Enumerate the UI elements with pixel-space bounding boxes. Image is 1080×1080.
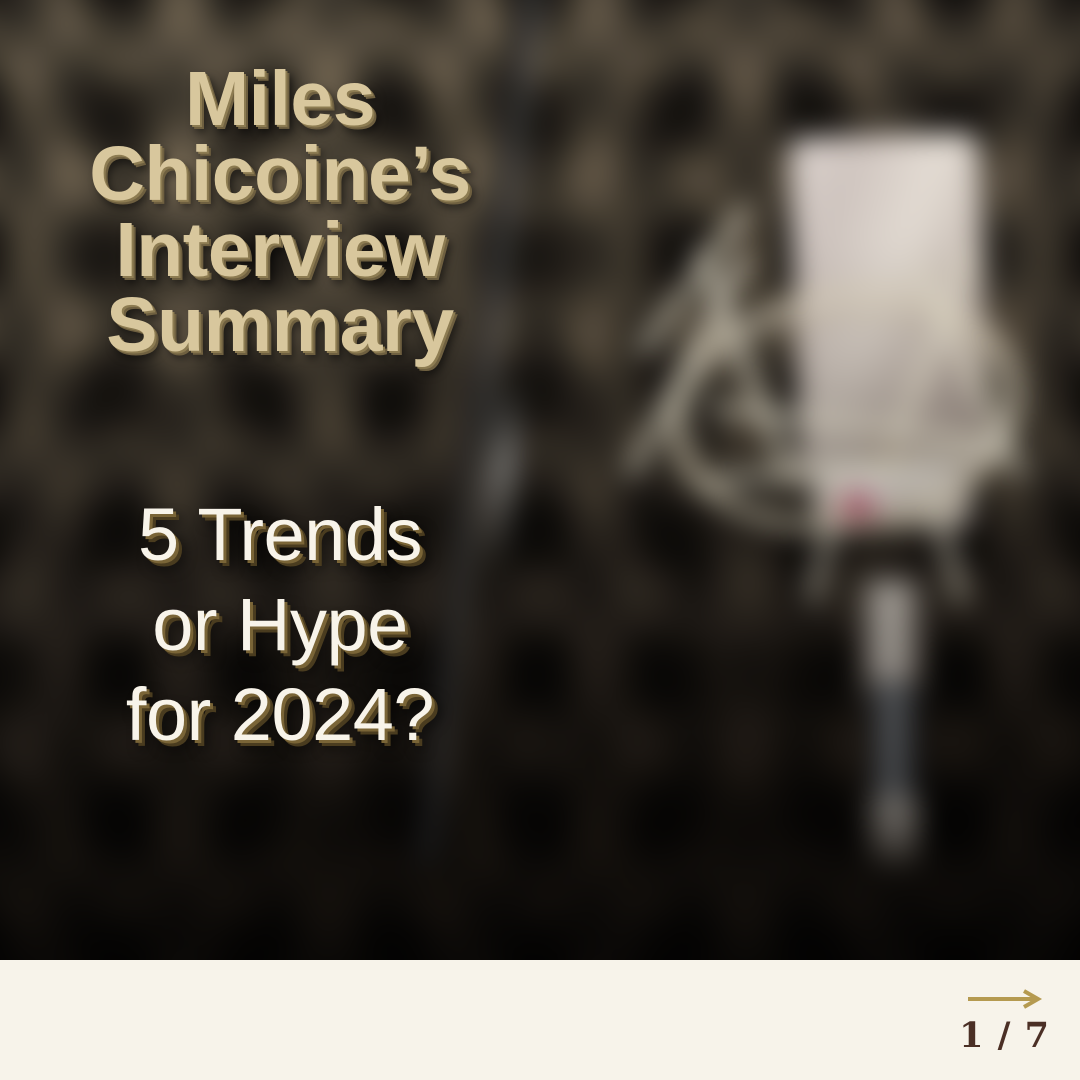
subtitle-line: 5 Trends (138, 493, 422, 576)
footer-controls: 1 / 7 (959, 960, 1050, 1080)
title-line: Summary (106, 282, 453, 368)
subtitle-line: or Hype (152, 583, 408, 666)
arrow-right-icon[interactable] (966, 988, 1044, 1010)
page-subtitle: 5 Trends or Hype for 2024? (40, 364, 520, 761)
carousel-slide: Miles Chicoine’s Interview Summary 5 Tre… (0, 0, 1080, 1080)
title-line: Chicoine’s (89, 131, 471, 217)
page-title: Miles Chicoine’s Interview Summary (40, 62, 520, 364)
title-line: Interview (115, 207, 444, 293)
subtitle-line: for 2024? (126, 673, 434, 756)
slide-copy: Miles Chicoine’s Interview Summary 5 Tre… (40, 62, 520, 761)
page-indicator: 1 / 7 (959, 1018, 1050, 1053)
title-line: Miles (185, 56, 375, 142)
footer-bar: 1 / 7 (0, 960, 1080, 1080)
